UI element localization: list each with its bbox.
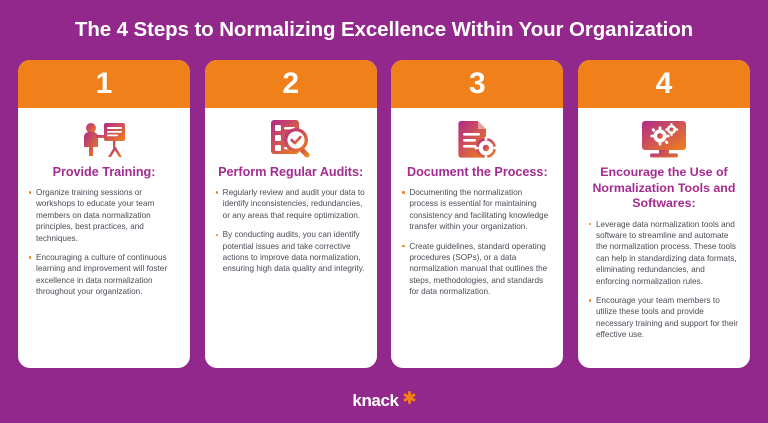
step-bullets-4: Leverage data normalization tools and so… xyxy=(589,219,739,341)
step-number-2: 2 xyxy=(282,69,299,99)
infographic-poster: The 4 Steps to Normalizing Excellence Wi… xyxy=(0,0,768,423)
step-body-1: Provide Training: Organize training sess… xyxy=(18,108,190,368)
footer-logo: knack xyxy=(0,391,768,409)
bullet-item: Create guidelines, standard operating pr… xyxy=(402,241,552,298)
brand-name: knack xyxy=(352,392,398,409)
step-number-1: 1 xyxy=(96,69,113,99)
bullet-item: Documenting the normalization process is… xyxy=(402,187,552,233)
bullet-item: By conducting audits, you can identify p… xyxy=(216,229,366,275)
monitor-gears-icon xyxy=(589,118,739,160)
step-title-2: Perform Regular Audits: xyxy=(216,165,366,180)
step-card-4: 4 xyxy=(578,60,750,368)
step-title-3: Document the Process: xyxy=(402,165,552,180)
steps-container: 1 xyxy=(18,60,750,368)
step-bullets-2: Regularly review and audit your data to … xyxy=(216,187,366,275)
bullet-item: Organize training sessions or workshops … xyxy=(29,187,179,244)
checklist-magnifier-icon xyxy=(216,118,366,160)
step-card-2: 2 xyxy=(205,60,377,368)
step-number-3: 3 xyxy=(469,69,486,99)
step-title-1: Provide Training: xyxy=(29,165,179,180)
step-header-2: 2 xyxy=(205,60,377,108)
step-card-3: 3 xyxy=(391,60,563,368)
step-body-3: Document the Process: Documenting the no… xyxy=(391,108,563,368)
page-title: The 4 Steps to Normalizing Excellence Wi… xyxy=(0,17,768,43)
asterisk-star-icon xyxy=(403,391,416,409)
step-body-2: Perform Regular Audits: Regularly review… xyxy=(205,108,377,368)
document-gear-icon xyxy=(402,118,552,160)
step-body-4: Encourage the Use of Normalization Tools… xyxy=(578,108,750,368)
step-bullets-1: Organize training sessions or workshops … xyxy=(29,187,179,298)
bullet-item: Encourage your team members to utilize t… xyxy=(589,295,739,341)
step-title-4: Encourage the Use of Normalization Tools… xyxy=(589,165,739,212)
step-header-4: 4 xyxy=(578,60,750,108)
presenter-whiteboard-icon xyxy=(29,118,179,160)
step-bullets-3: Documenting the normalization process is… xyxy=(402,187,552,298)
step-number-4: 4 xyxy=(656,69,673,99)
step-header-3: 3 xyxy=(391,60,563,108)
bullet-item: Regularly review and audit your data to … xyxy=(216,187,366,221)
bullet-item: Leverage data normalization tools and so… xyxy=(589,219,739,287)
step-header-1: 1 xyxy=(18,60,190,108)
bullet-item: Encouraging a culture of continuous lear… xyxy=(29,252,179,298)
step-card-1: 1 xyxy=(18,60,190,368)
